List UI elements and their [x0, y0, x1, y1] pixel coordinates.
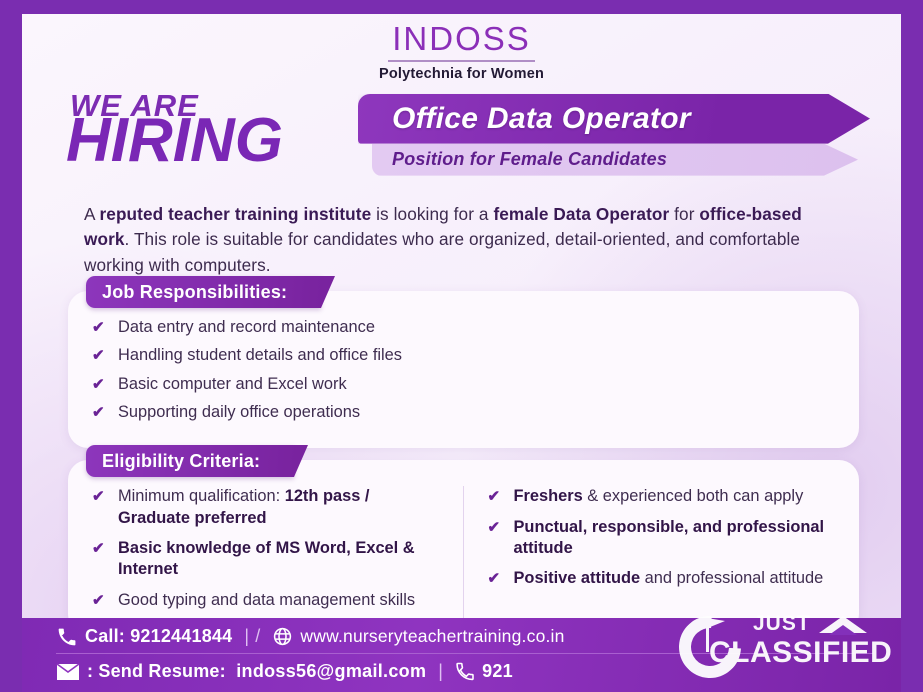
intro-text-3: for	[669, 204, 699, 224]
intro-bold-1: reputed teacher training institute	[100, 204, 372, 224]
check-icon: ✔	[92, 403, 105, 423]
check-icon: ✔	[92, 591, 105, 611]
poster-inner: INDOSS Polytechnia for Women WE ARE HIRI…	[22, 14, 901, 692]
list-item: ✔Punctual, responsible, and professional…	[486, 517, 838, 560]
responsibility-text: Supporting daily office operations	[118, 403, 360, 421]
contact-footer: Call: 9212441844 | / www.nurseryteachert…	[22, 618, 901, 692]
eligibility-text: Minimum qualification:	[118, 487, 285, 505]
headline-hiring: HIRING	[66, 110, 283, 172]
eligibility-card: Eligibility Criteria: ✔Minimum qualifica…	[68, 460, 859, 634]
eligibility-list-left: ✔Minimum qualification: 12th pass / Grad…	[90, 486, 464, 620]
phone-icon-2	[455, 662, 475, 681]
list-item: ✔Basic knowledge of MS Word, Excel & Int…	[90, 538, 445, 581]
position-banner: Office Data Operator Position for Female…	[358, 94, 878, 176]
phone-icon	[56, 627, 78, 647]
eligibility-text: and professional attitude	[640, 569, 823, 587]
list-item: ✔Good typing and data management skills	[90, 590, 445, 611]
separator-pipe-2: |	[438, 661, 443, 682]
eligibility-bold: Freshers	[514, 487, 583, 505]
brand-name: INDOSS	[388, 22, 535, 62]
intro-paragraph: A reputed teacher training institute is …	[84, 202, 845, 279]
brand-tagline: Polytechnia for Women	[22, 66, 901, 82]
check-icon: ✔	[488, 487, 501, 507]
eligibility-list-right: ✔Freshers & experienced both can apply ✔…	[464, 486, 838, 620]
intro-text-1: A	[84, 204, 100, 224]
eligibility-bold: Basic knowledge of MS Word, Excel & Inte…	[118, 539, 415, 578]
list-item: ✔Supporting daily office operations	[90, 402, 837, 423]
position-title-ribbon: Office Data Operator	[358, 94, 878, 144]
position-subtitle: Position for Female Candidates	[392, 149, 667, 170]
separator-pipe: |	[244, 626, 249, 647]
eligibility-columns: ✔Minimum qualification: 12th pass / Grad…	[90, 486, 837, 620]
responsibilities-heading-tab: Job Responsibilities:	[86, 276, 321, 308]
list-item: ✔Positive attitude and professional atti…	[486, 568, 838, 589]
responsibilities-card: Job Responsibilities: ✔Data entry and re…	[68, 291, 859, 448]
call-label: Call:	[85, 626, 125, 647]
eligibility-heading-tab: Eligibility Criteria:	[86, 445, 294, 477]
phone-number-2[interactable]: 921	[482, 661, 513, 682]
check-icon: ✔	[92, 346, 105, 366]
responsibilities-heading: Job Responsibilities:	[102, 282, 287, 303]
list-item: ✔Data entry and record maintenance	[90, 317, 837, 338]
list-item: ✔Minimum qualification: 12th pass / Grad…	[90, 486, 445, 529]
poster: INDOSS Polytechnia for Women WE ARE HIRI…	[0, 0, 923, 692]
list-item: ✔Freshers & experienced both can apply	[486, 486, 838, 507]
separator-slash: /	[255, 626, 260, 647]
check-icon: ✔	[92, 318, 105, 338]
website-url[interactable]: www.nurseryteachertraining.co.in	[300, 626, 564, 647]
eligibility-bold: Positive attitude	[514, 569, 641, 587]
mail-icon	[56, 663, 80, 681]
responsibility-text: Handling student details and office file…	[118, 346, 402, 364]
brand-logo: INDOSS Polytechnia for Women	[22, 14, 901, 82]
intro-text-4: . This role is suitable for candidates w…	[84, 229, 800, 275]
check-icon: ✔	[92, 539, 105, 559]
check-icon: ✔	[92, 487, 105, 507]
contact-row-call: Call: 9212441844 | / www.nurseryteachert…	[56, 626, 873, 654]
responsibility-text: Data entry and record maintenance	[118, 318, 375, 336]
globe-icon	[272, 626, 293, 647]
responsibilities-list: ✔Data entry and record maintenance ✔Hand…	[90, 317, 837, 423]
list-item: ✔Basic computer and Excel work	[90, 374, 837, 395]
check-icon: ✔	[92, 375, 105, 395]
intro-text-2: is looking for a	[371, 204, 493, 224]
email-address[interactable]: indoss56@gmail.com	[236, 661, 426, 682]
list-item: ✔Handling student details and office fil…	[90, 345, 837, 366]
resume-label: : Send Resume:	[87, 661, 226, 682]
intro-bold-2: female Data Operator	[493, 204, 669, 224]
eligibility-text: & experienced both can apply	[583, 487, 804, 505]
eligibility-heading: Eligibility Criteria:	[102, 451, 260, 472]
check-icon: ✔	[488, 518, 501, 538]
responsibility-text: Basic computer and Excel work	[118, 375, 347, 393]
phone-number[interactable]: 9212441844	[130, 626, 232, 647]
position-title: Office Data Operator	[392, 102, 691, 136]
eligibility-text: Good typing and data management skills	[118, 591, 415, 609]
position-subtitle-ribbon: Position for Female Candidates	[372, 144, 878, 176]
contact-row-resume: : Send Resume: indoss56@gmail.com | 921	[56, 654, 873, 682]
check-icon: ✔	[488, 569, 501, 589]
headline-row: WE ARE HIRING Office Data Operator Posit…	[22, 88, 901, 196]
eligibility-bold: Punctual, responsible, and professional …	[514, 518, 825, 557]
